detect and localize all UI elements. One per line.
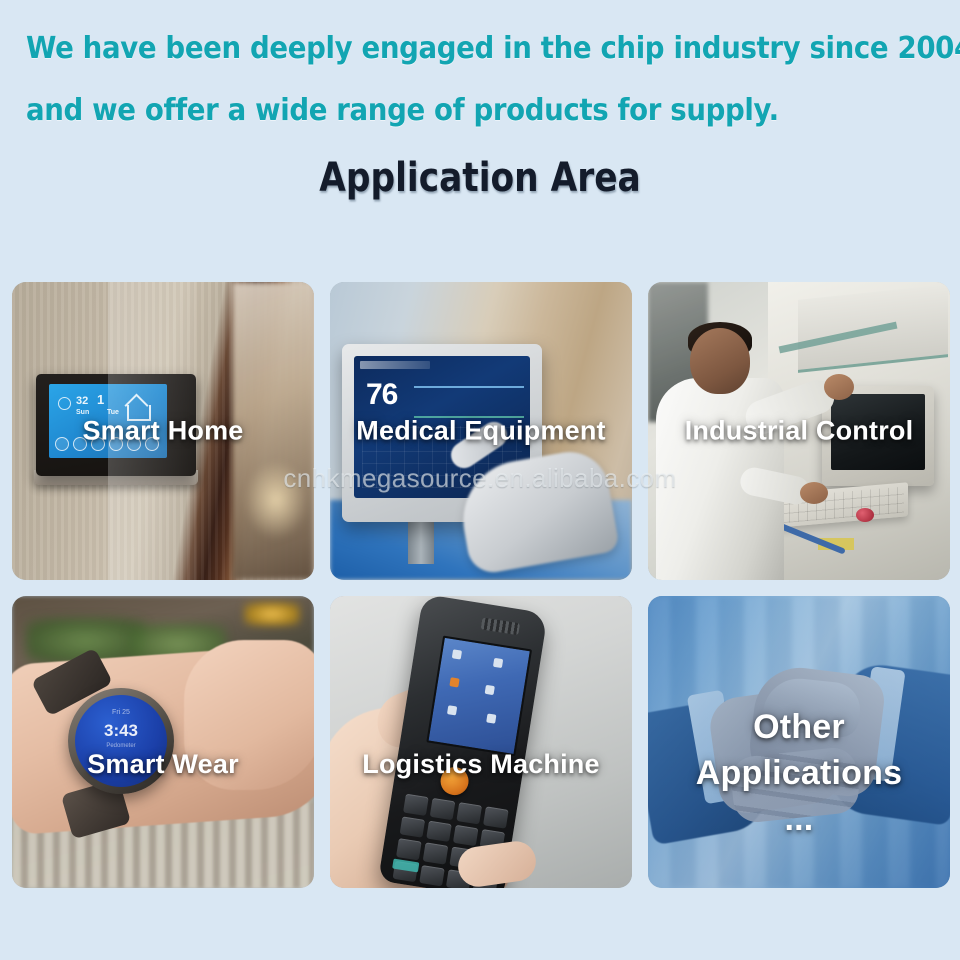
weather-sun-icon xyxy=(58,397,71,410)
control-monitor xyxy=(822,386,934,486)
smartwatch-face: Fri 25 3:43 Pedometer xyxy=(75,695,167,787)
keypad-key xyxy=(483,806,509,828)
screen-icon xyxy=(452,649,462,659)
headline-line-2: and we offer a wide range of products fo… xyxy=(26,80,861,142)
device-speaker-grille xyxy=(481,617,520,635)
card-smart-wear[interactable]: Fri 25 3:43 Pedometer Smart Wear xyxy=(12,596,314,888)
keypad-key xyxy=(430,798,456,820)
keypad-key xyxy=(396,838,422,860)
technician-head xyxy=(690,328,750,394)
headline-block: We have been deeply engaged in the chip … xyxy=(0,18,960,142)
dock-icon xyxy=(73,437,87,451)
card-medical-equipment[interactable]: 76 Medical Equipment xyxy=(330,282,632,580)
background-light xyxy=(244,460,308,540)
device-screen xyxy=(426,636,532,757)
screen-value: 1 xyxy=(97,396,104,404)
headline-line-1: We have been deeply engaged in the chip … xyxy=(26,18,861,80)
keypad-key xyxy=(426,820,452,842)
dock-icon xyxy=(91,437,105,451)
watch-date: Fri 25 xyxy=(75,709,167,716)
keypad-key xyxy=(403,794,429,816)
logistics-machine-photo xyxy=(330,596,632,888)
monitor-stand xyxy=(408,520,434,564)
card-other-applications[interactable]: Other Applications ... xyxy=(648,596,950,888)
screen-icon xyxy=(493,658,503,668)
keypad-key xyxy=(456,802,482,824)
dock-icon xyxy=(55,437,69,451)
hand xyxy=(184,640,314,790)
card-smart-home[interactable]: 32 1 Sun Tue xyxy=(12,282,314,580)
application-area-banner: We have been deeply engaged in the chip … xyxy=(0,0,960,960)
vitals-reading: 76 xyxy=(366,380,397,410)
page-title: Application Area xyxy=(67,155,893,201)
smart-wear-photo: Fri 25 3:43 Pedometer xyxy=(12,596,314,888)
device-center-button xyxy=(439,765,471,797)
smartwatch-body: Fri 25 3:43 Pedometer xyxy=(68,688,174,794)
keypad-key xyxy=(419,865,445,887)
technician-hand-upper xyxy=(824,374,854,400)
blue-color-overlay xyxy=(648,596,950,888)
keypad-key xyxy=(400,816,426,838)
ecg-waveform xyxy=(414,386,524,388)
emergency-stop-button xyxy=(856,508,874,522)
watch-subtitle: Pedometer xyxy=(75,743,167,749)
control-monitor-screen xyxy=(831,394,925,470)
keypad-key xyxy=(423,842,449,864)
application-area-grid: 32 1 Sun Tue xyxy=(12,282,948,888)
card-industrial-control[interactable]: Industrial Control xyxy=(648,282,950,580)
card-logistics-machine[interactable]: Logistics Machine xyxy=(330,596,632,888)
light-sheen xyxy=(108,282,196,580)
medical-equipment-photo: 76 xyxy=(330,282,632,580)
screen-icon xyxy=(449,677,459,687)
technician-hand-lower xyxy=(800,482,828,504)
keypad-key xyxy=(453,824,479,846)
screen-icon xyxy=(485,685,495,695)
watch-time: 3:43 xyxy=(75,721,167,741)
industrial-control-photo xyxy=(648,282,950,580)
screen-topbar xyxy=(360,361,430,369)
smart-home-photo: 32 1 Sun Tue xyxy=(12,282,314,580)
background-signage-light xyxy=(244,602,300,626)
screen-icon xyxy=(447,705,457,715)
screen-icon xyxy=(486,713,496,723)
screen-temp: 32 xyxy=(76,397,88,405)
screen-label-1: Sun xyxy=(76,409,89,417)
other-applications-photo xyxy=(648,596,950,888)
spo2-waveform xyxy=(414,416,524,418)
